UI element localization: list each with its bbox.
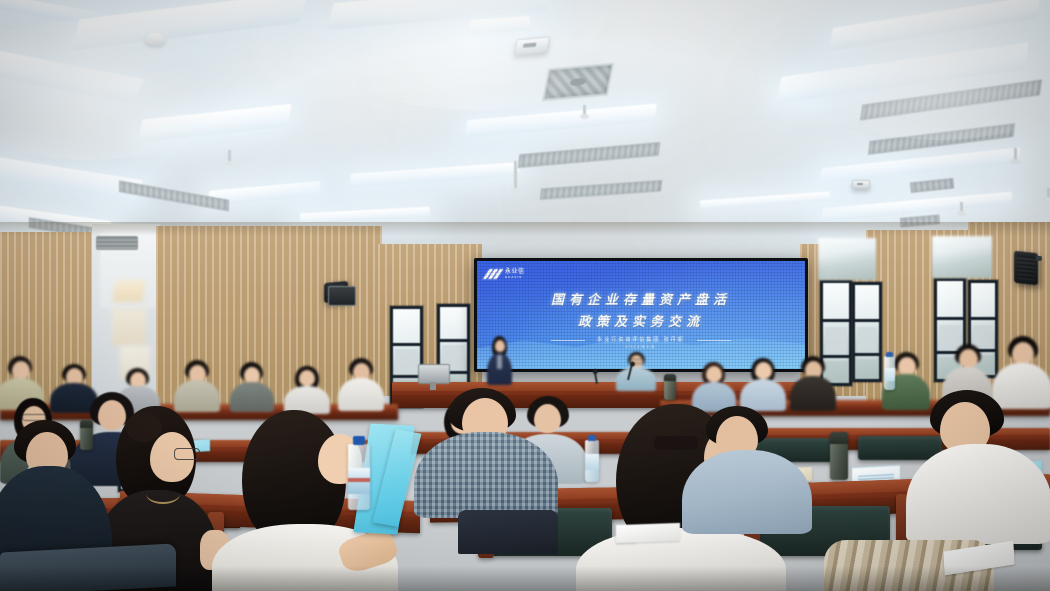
screen-title-line2: 政策及实务交流 bbox=[477, 311, 805, 330]
conference-room-photo: 永业信 HUAXIN 国有企业存量资产盘活 政策及实务交流 永业行资询评估集团 … bbox=[0, 0, 1050, 591]
thermos-flask[interactable] bbox=[664, 374, 676, 400]
bottle-cap bbox=[353, 436, 365, 445]
window-mullion bbox=[393, 343, 420, 346]
audience-member bbox=[176, 360, 218, 410]
torso bbox=[616, 367, 656, 391]
torso bbox=[230, 382, 274, 412]
window-header-glass bbox=[932, 236, 992, 278]
trousers bbox=[458, 510, 558, 554]
audience-member bbox=[418, 388, 558, 548]
thermos-flask[interactable] bbox=[830, 432, 848, 480]
audience-member bbox=[694, 362, 734, 410]
head bbox=[755, 362, 772, 379]
torso bbox=[682, 450, 812, 534]
smoke-detector bbox=[145, 33, 165, 45]
head bbox=[959, 349, 978, 368]
window-mullion bbox=[440, 339, 467, 342]
wall-ceiling-shadow bbox=[0, 222, 1050, 236]
head bbox=[706, 366, 722, 382]
torso bbox=[338, 378, 384, 411]
screen-presenter-line: 永业行资询评估集团 张丹妮 bbox=[597, 337, 684, 343]
window-mullion bbox=[971, 317, 995, 320]
side-monitor bbox=[328, 286, 356, 306]
sprinkler-head bbox=[228, 150, 231, 162]
water-bottle[interactable] bbox=[884, 356, 895, 390]
sprinkler-head bbox=[960, 202, 963, 212]
thermos-cap bbox=[664, 374, 676, 381]
window-mullion bbox=[823, 319, 849, 322]
side-monitor bbox=[418, 364, 450, 384]
window bbox=[852, 282, 882, 382]
audience-member bbox=[286, 366, 328, 412]
company-logo-text: 永业信 HUAXIN bbox=[505, 269, 525, 278]
audience-member bbox=[690, 406, 810, 546]
paper-sheet[interactable] bbox=[616, 523, 680, 543]
presenter-at-table bbox=[614, 352, 658, 388]
screen-date-line: 2024年8月 bbox=[477, 345, 805, 350]
screen-subtitle-block: 永业行资询评估集团 张丹妮 2024年8月 bbox=[477, 336, 805, 350]
audience-member bbox=[792, 356, 834, 410]
head bbox=[495, 340, 505, 352]
company-logo-icon bbox=[483, 269, 504, 279]
wall-speaker bbox=[1014, 251, 1038, 286]
window-header-glass bbox=[818, 238, 876, 280]
torso bbox=[906, 444, 1050, 544]
wall-projection-mark bbox=[112, 280, 146, 302]
screen-title-line1: 国有企业存量资产盘活 bbox=[477, 289, 805, 308]
wall-projection-mark bbox=[112, 308, 146, 346]
head bbox=[12, 361, 30, 379]
sprinkler-head bbox=[583, 105, 586, 115]
head bbox=[898, 357, 916, 375]
sprinkler-head bbox=[1014, 148, 1017, 160]
wall-speaker-bracket bbox=[1036, 256, 1042, 261]
host-standing bbox=[484, 336, 514, 384]
bottle-cap bbox=[886, 352, 893, 357]
ac-grille bbox=[96, 236, 138, 250]
glasses bbox=[174, 448, 200, 460]
audience-member bbox=[340, 358, 382, 410]
thermos-cap bbox=[830, 432, 848, 444]
window-mullion bbox=[937, 317, 963, 320]
ceiling-sensor bbox=[852, 180, 870, 189]
torso bbox=[414, 432, 558, 518]
bottle-label bbox=[884, 368, 895, 381]
head bbox=[1012, 342, 1034, 364]
screen-title-block: 国有企业存量资产盘活 政策及实务交流 bbox=[477, 289, 805, 330]
window-mullion bbox=[393, 375, 420, 378]
ceiling-sensor bbox=[514, 36, 550, 55]
window-mullion bbox=[855, 319, 879, 322]
water-bottle[interactable] bbox=[348, 444, 370, 510]
audience-member bbox=[916, 390, 1050, 550]
screen-logo: 永业信 HUAXIN bbox=[485, 269, 525, 279]
sprinkler-head bbox=[514, 161, 517, 189]
bottle-label-stripe bbox=[348, 478, 370, 482]
audience-member bbox=[742, 358, 784, 410]
head bbox=[299, 370, 315, 386]
necklace bbox=[146, 484, 180, 504]
lanyard bbox=[497, 355, 502, 369]
head bbox=[244, 367, 260, 383]
air-vent-diffuser bbox=[542, 63, 614, 101]
hair-bun bbox=[126, 412, 162, 442]
floor-shadow bbox=[0, 566, 1050, 591]
window-mullion bbox=[855, 353, 879, 356]
audience-member bbox=[232, 362, 272, 410]
logo-sub-text: HUAXIN bbox=[505, 276, 525, 279]
